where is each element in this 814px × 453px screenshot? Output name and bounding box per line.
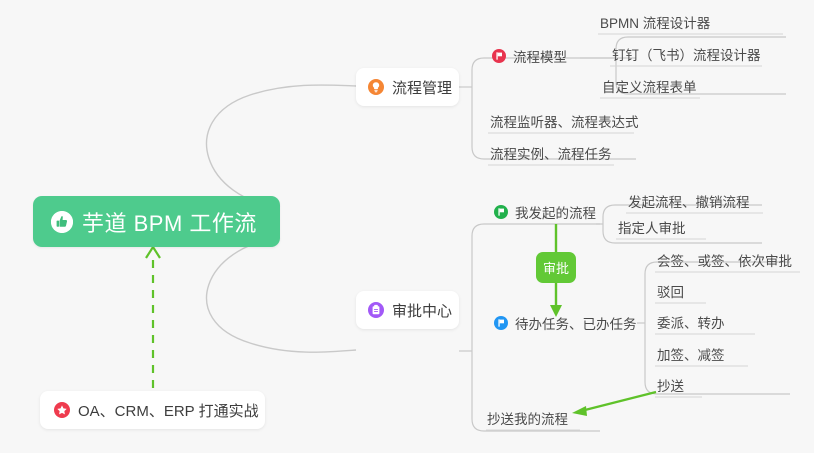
floating-label-integration-practice: OA、CRM、ERP 打通实战 [78,400,259,421]
leaf-label-process-instance: 流程实例、流程任务 [490,143,612,163]
edge-root-to-approval-center [207,238,356,352]
leaf-label-custom-form: 自定义流程表单 [602,76,697,96]
leaf-label-bpmn-designer: BPMN 流程设计器 [600,12,710,32]
approval-tag[interactable]: 审批 [536,252,576,283]
leaf-label-cc-to-me: 抄送我的流程 [487,408,568,428]
leaf-dingtalk-designer[interactable]: 钉钉（飞书）流程设计器 [612,43,761,65]
leaf-process-listener[interactable]: 流程监听器、流程表达式 [490,110,639,132]
leaf-label-delegate-transfer: 委派、转办 [657,312,725,332]
leaf-label-add-remove-sign: 加签、减签 [657,344,725,364]
leaf-add-remove-sign[interactable]: 加签、减签 [657,343,725,365]
leaf-todo-done-tasks[interactable]: 待办任务、已办任务 [494,311,637,335]
approval-tag-label: 审批 [543,258,569,277]
leaf-delegate-transfer[interactable]: 委派、转办 [657,311,725,333]
leaf-label-cc: 抄送 [657,375,684,395]
leaf-assigned-approval[interactable]: 指定人审批 [618,216,686,238]
branch-label-process-management: 流程管理 [392,77,452,98]
leaf-initiate-revoke[interactable]: 发起流程、撤销流程 [628,190,750,212]
leaf-label-assigned-approval: 指定人审批 [618,217,686,237]
branch-card-process-management[interactable]: 流程管理 [356,68,459,106]
edge-root-to-process-management [207,85,356,207]
leaf-label-initiate-revoke: 发起流程、撤销流程 [628,191,750,211]
leaf-label-process-model: 流程模型 [513,46,567,66]
root-node[interactable]: 芋道 BPM 工作流 [33,196,280,247]
leaf-custom-form[interactable]: 自定义流程表单 [602,75,697,97]
star-icon [54,402,70,418]
root-label: 芋道 BPM 工作流 [82,206,257,238]
branch-label-approval-center: 审批中心 [392,300,452,321]
leaf-label-countersign: 会签、或签、依次审批 [657,250,792,270]
branch-card-approval-center[interactable]: 审批中心 [356,291,459,329]
floating-card-integration-practice[interactable]: OA、CRM、ERP 打通实战 [40,391,265,429]
flag-icon [492,49,506,63]
leaf-label-dingtalk-designer: 钉钉（飞书）流程设计器 [612,44,761,64]
leaf-bpmn-designer[interactable]: BPMN 流程设计器 [600,11,710,33]
leaf-label-process-listener: 流程监听器、流程表达式 [490,111,639,131]
lightbulb-icon [368,79,384,95]
leaf-cc[interactable]: 抄送 [657,374,684,396]
clipboard-icon [368,302,384,318]
leaf-reject[interactable]: 驳回 [657,280,684,302]
leaf-my-initiated[interactable]: 我发起的流程 [494,200,596,224]
mindmap-canvas: 芋道 BPM 工作流 流程管理 审批中心 [0,0,814,453]
integration-dashed-arrow-head [146,247,160,258]
flag-icon [494,316,508,330]
leaf-label-todo-done-tasks: 待办任务、已办任务 [515,313,637,333]
leaf-countersign[interactable]: 会签、或签、依次审批 [657,249,792,271]
flag-icon [494,205,508,219]
leaf-process-instance[interactable]: 流程实例、流程任务 [490,142,612,164]
leaf-label-my-initiated: 我发起的流程 [515,202,596,222]
leaf-process-model[interactable]: 流程模型 [492,44,567,68]
leaf-cc-to-me[interactable]: 抄送我的流程 [487,407,568,429]
leaf-label-reject: 驳回 [657,281,684,301]
cc-link-arrow-shaft [581,392,656,411]
thumbs-up-icon [51,211,73,233]
cc-link-arrow-head [572,406,587,416]
